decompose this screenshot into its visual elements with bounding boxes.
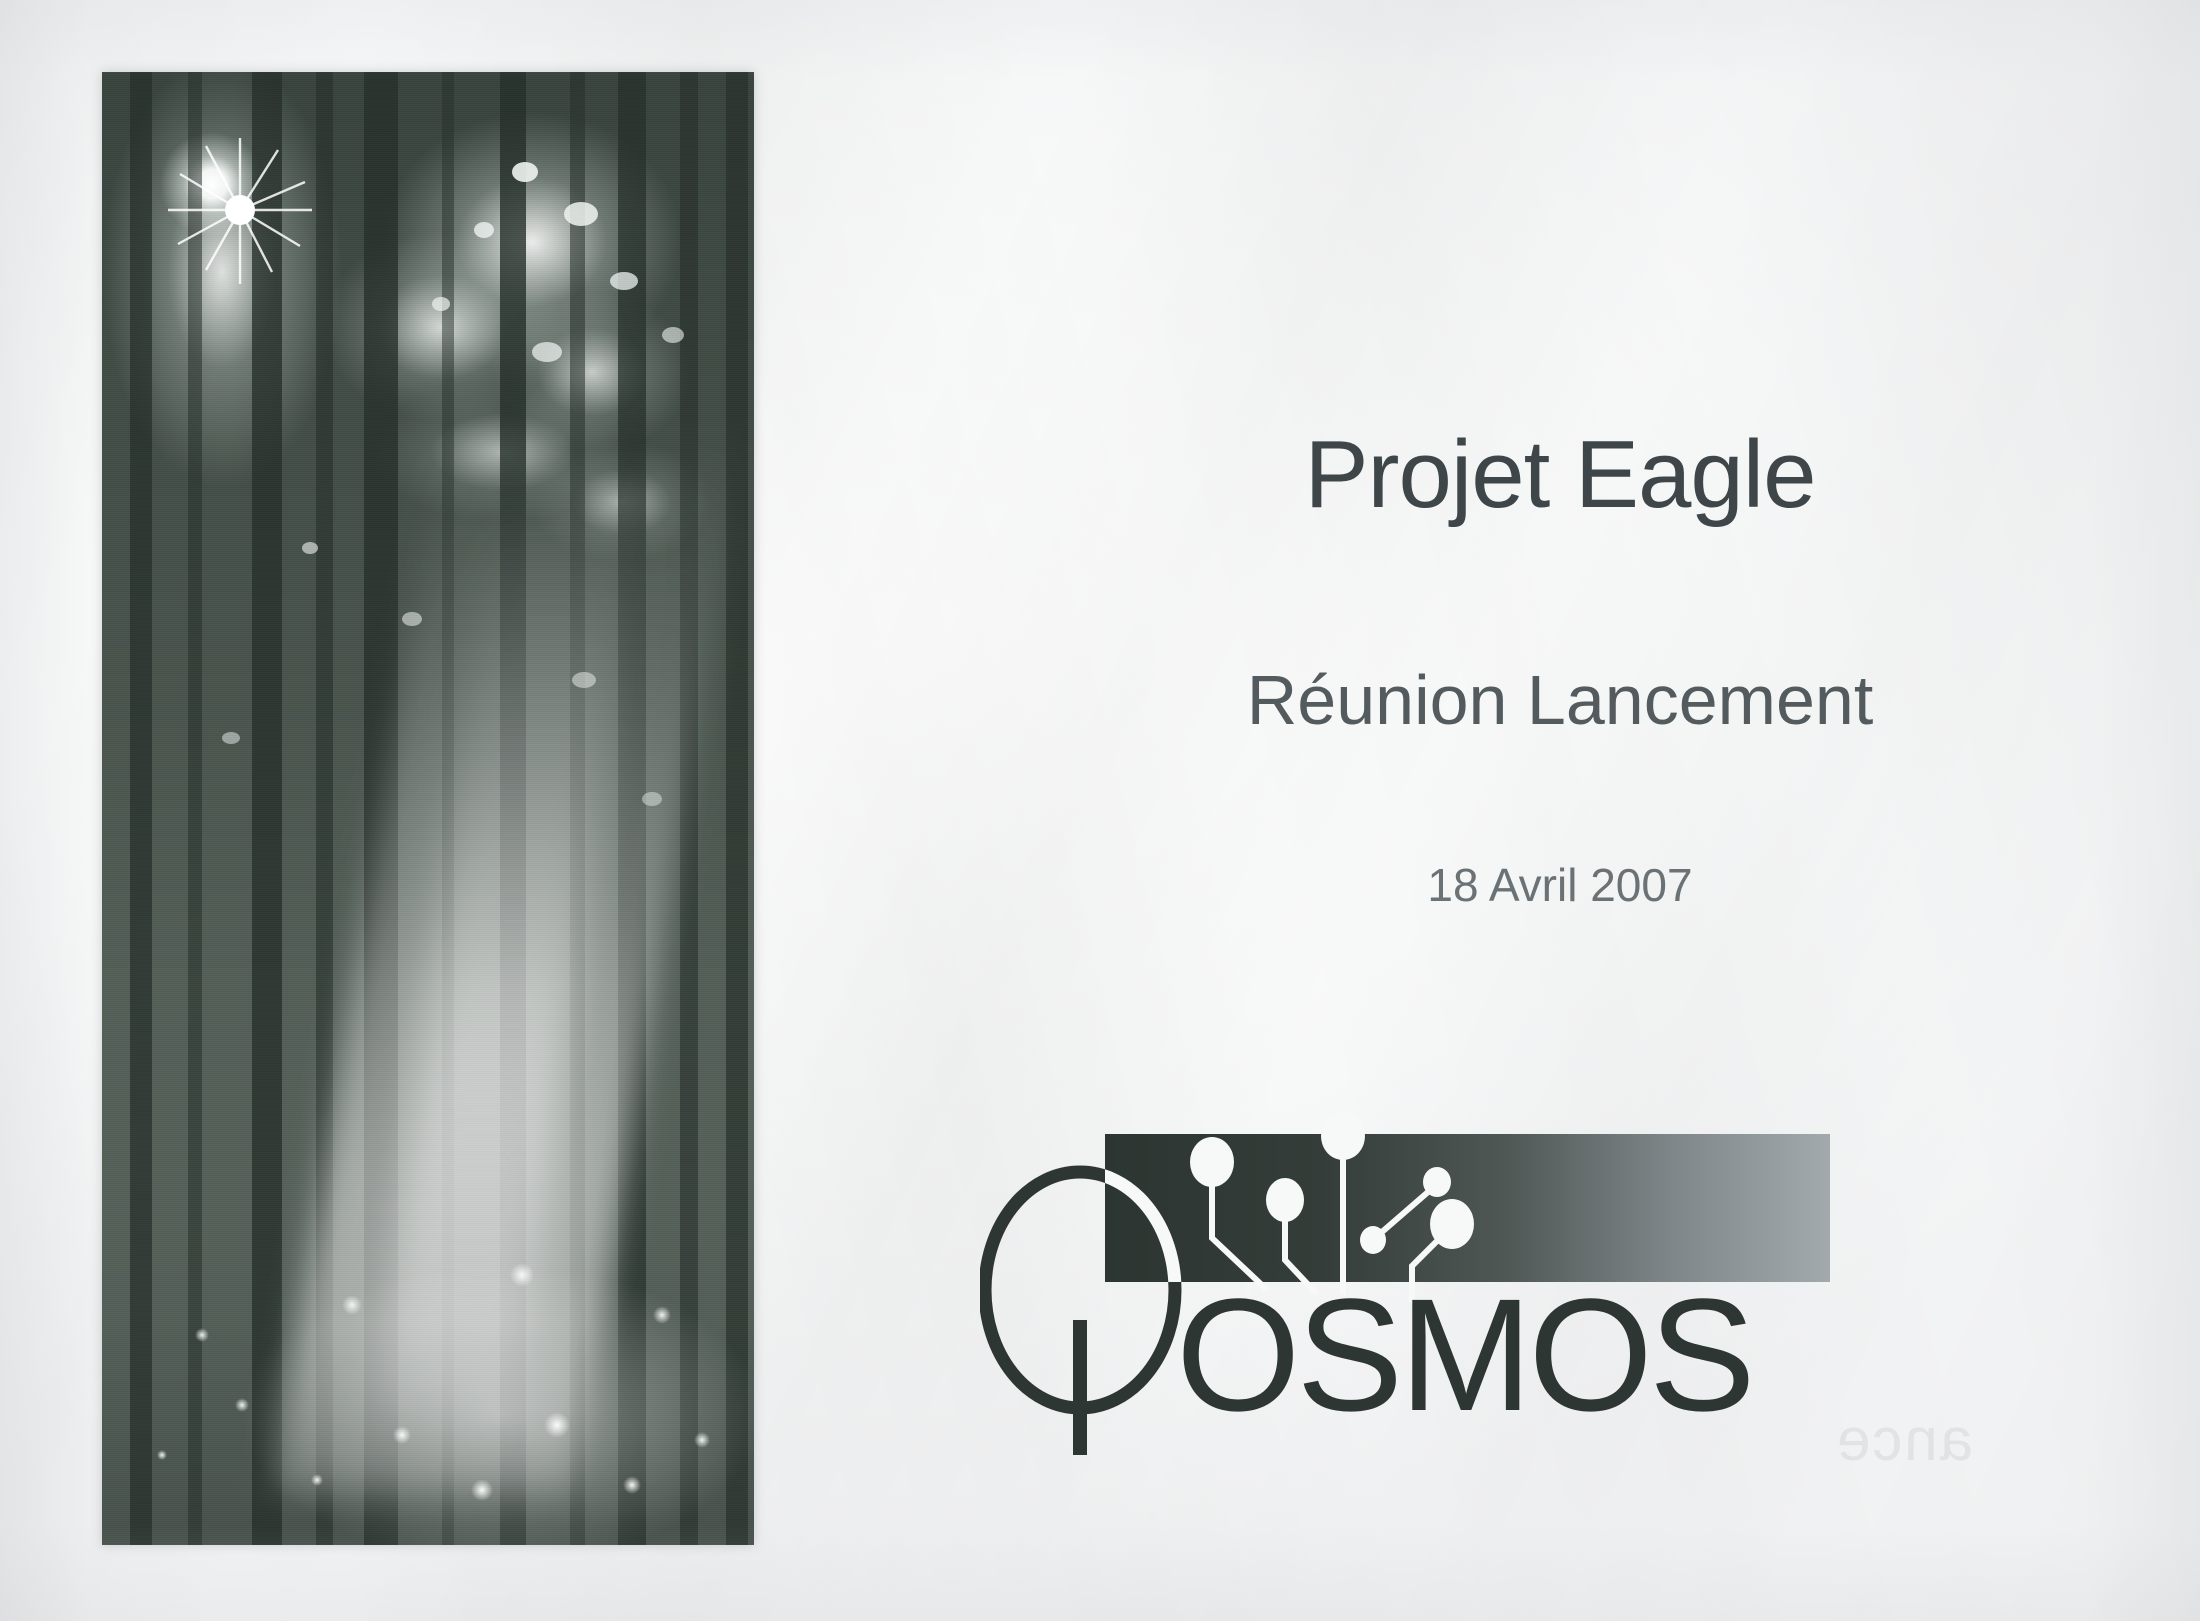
slide-title: Projet Eagle	[1030, 420, 2090, 530]
forest-sunbeams-photo	[102, 72, 754, 1545]
cosmos-logo: OSMOS	[980, 1110, 1880, 1470]
slide-date: 18 Avril 2007	[1030, 858, 2090, 912]
logo-wordmark: OSMOS	[1176, 1265, 1752, 1444]
logo-phi-symbol	[985, 1172, 1175, 1455]
slide-subtitle: Réunion Lancement	[1030, 660, 2090, 740]
photo-scan-grain	[102, 72, 754, 1545]
presentation-slide: Projet Eagle Réunion Lancement 18 Avril …	[0, 0, 2200, 1621]
